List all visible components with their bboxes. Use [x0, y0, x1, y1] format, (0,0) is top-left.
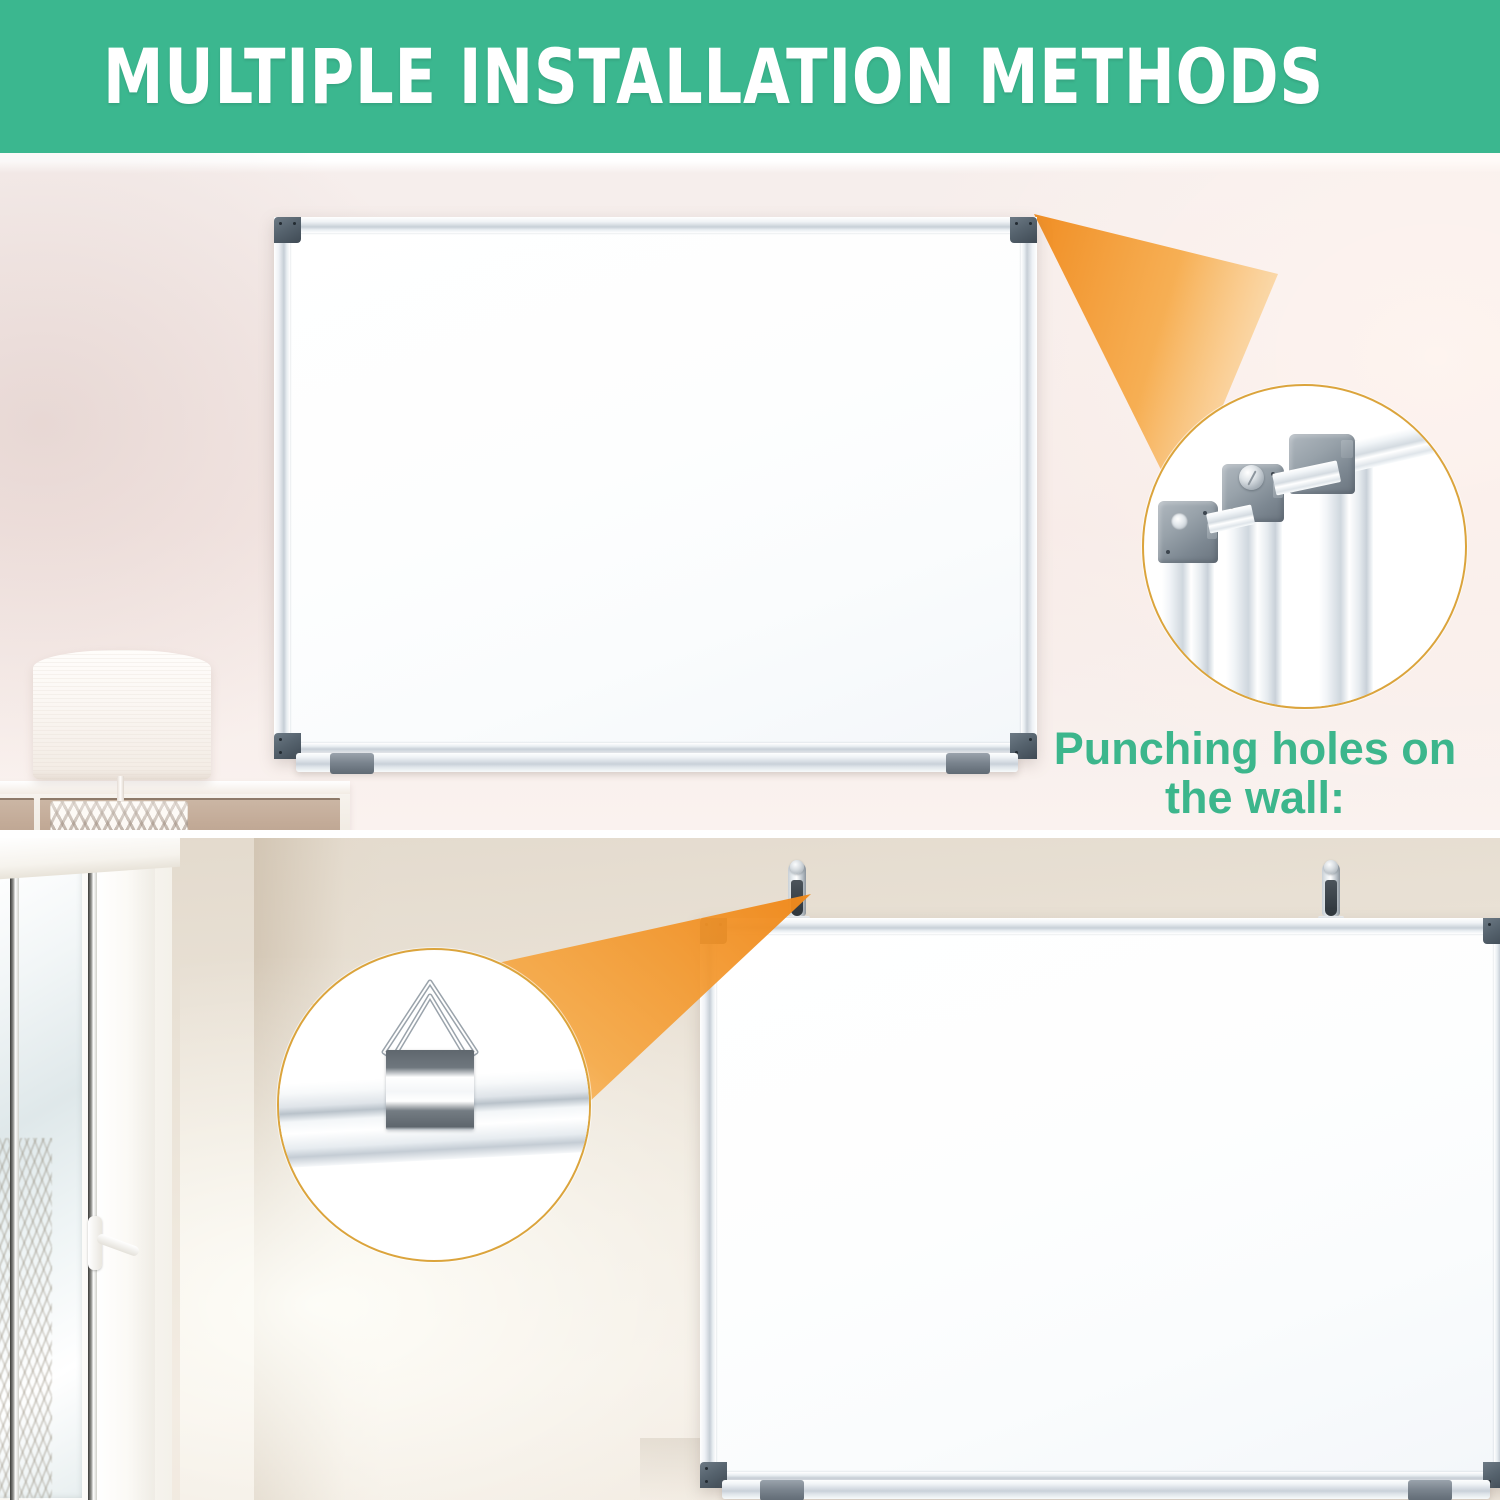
frame-rail-right [1494, 918, 1500, 1488]
lamp-wire-base [50, 801, 188, 830]
callout-heading-line2: the wall: [1020, 774, 1490, 823]
pen-tray-cap-left [760, 1480, 804, 1500]
frame-corner-top-right [1483, 918, 1500, 944]
whiteboard-top [274, 217, 1037, 759]
door-mullion-left [10, 860, 19, 1500]
detail-circle-frame-corners [1142, 384, 1467, 709]
hook-screw-icon [790, 860, 804, 874]
detail-circle-triangle-hanger [277, 948, 591, 1262]
corner-hole-icon [1488, 923, 1491, 926]
whiteboard-writing-surface [716, 934, 1494, 1472]
pen-tray-top [296, 753, 1018, 772]
glass-door [0, 838, 186, 1500]
corner-hole-icon [279, 751, 282, 754]
corner-hole-icon [705, 1480, 708, 1483]
cap-pinhole-icon [1166, 550, 1170, 554]
hook-screw-icon [1324, 860, 1338, 874]
corner-hole-icon [1029, 222, 1032, 225]
cap-mounting-hole-icon [1171, 513, 1188, 530]
pen-tray-cap-left [330, 753, 374, 774]
frame-rail-right [1021, 217, 1037, 759]
mounting-screw-icon [1239, 465, 1264, 490]
frame-corner-top-right [1010, 217, 1037, 243]
frame-corner-top-left [274, 217, 301, 243]
corner-hole-icon [1015, 222, 1018, 225]
corner-hole-icon [293, 222, 296, 225]
hanger-mounting-plate [386, 1050, 474, 1130]
hook-tongue [1325, 880, 1337, 916]
pen-tray-cap-right [946, 753, 990, 774]
callout-punching-holes: Punching holes on the wall: Easy install… [1020, 725, 1490, 830]
corner-hole-icon [279, 738, 282, 741]
pen-tray-cap-right [1408, 1480, 1452, 1500]
cap-notch-icon [1341, 440, 1353, 458]
frame-rail-piece-1 [1162, 552, 1214, 709]
door-frame-inner [97, 868, 155, 1500]
frame-rail-top [274, 217, 1037, 233]
product-infographic: MULTIPLE INSTALLATION METHODS [0, 0, 1500, 1500]
dresser-drawer-left [0, 798, 34, 830]
door-mullion-right [88, 860, 97, 1500]
scene-hook-hanging: No punching: Hang it up with a hook [0, 838, 1500, 1500]
door-glass-texture [0, 1138, 52, 1498]
whiteboard-bottom [700, 918, 1500, 1488]
page-title: MULTIPLE INSTALLATION METHODS [103, 32, 1324, 121]
lamp-shade [33, 650, 211, 780]
lamp-neck [117, 776, 124, 804]
pen-tray-bottom [722, 1480, 1490, 1499]
panel-divider [0, 830, 1500, 838]
header-banner: MULTIPLE INSTALLATION METHODS [0, 0, 1500, 153]
dresser-top-surface [0, 781, 350, 794]
corner-hole-icon [279, 222, 282, 225]
frame-rail-top [700, 918, 1500, 934]
corner-hole-icon [705, 1467, 708, 1470]
callout-heading-line1: Punching holes on [1020, 725, 1490, 774]
scene-punching-holes: Punching holes on the wall: Easy install… [0, 153, 1500, 830]
whiteboard-writing-surface [290, 233, 1021, 743]
frame-rail-left [274, 217, 290, 759]
